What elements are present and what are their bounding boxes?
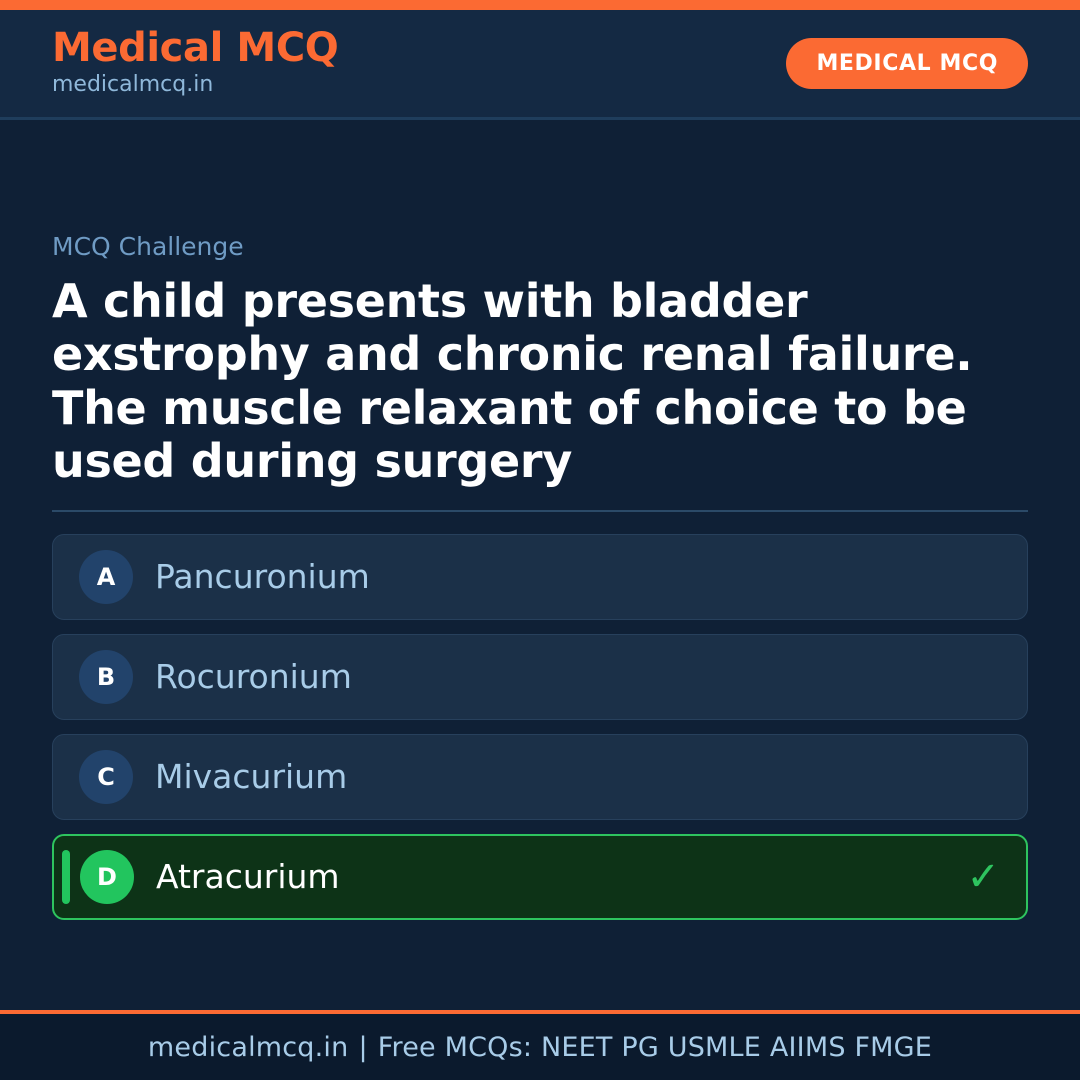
option-b[interactable]: B Rocuronium xyxy=(52,634,1028,720)
footer-separator: | xyxy=(348,1032,377,1063)
eyebrow-label: MCQ Challenge xyxy=(52,232,1028,262)
footer-text: medicalmcq.in|Free MCQs: NEET PG USMLE A… xyxy=(148,1032,932,1063)
header-badge: MEDICAL MCQ xyxy=(786,38,1028,89)
correct-accent-bar xyxy=(62,850,70,904)
option-d[interactable]: D Atracurium ✓ xyxy=(52,834,1028,920)
option-a-letter: A xyxy=(79,550,133,604)
header: Medical MCQ medicalmcq.in MEDICAL MCQ xyxy=(0,10,1080,120)
mcq-card: Medical MCQ medicalmcq.in MEDICAL MCQ MC… xyxy=(0,0,1080,1080)
top-accent-bar xyxy=(0,0,1080,10)
option-a-label: Pancuronium xyxy=(155,559,370,595)
option-c-label: Mivacurium xyxy=(155,759,347,795)
brand-subtitle: medicalmcq.in xyxy=(52,71,338,100)
brand-block: Medical MCQ medicalmcq.in xyxy=(52,27,338,100)
options-list: A Pancuronium B Rocuronium C Mivacurium … xyxy=(52,534,1028,920)
option-c-letter: C xyxy=(79,750,133,804)
checkmark-icon: ✓ xyxy=(966,857,1000,897)
option-b-label: Rocuronium xyxy=(155,659,352,695)
brand-title: Medical MCQ xyxy=(52,27,338,69)
question-text: A child presents with bladder exstrophy … xyxy=(52,275,1028,488)
option-d-letter: D xyxy=(80,850,134,904)
footer: medicalmcq.in|Free MCQs: NEET PG USMLE A… xyxy=(0,1010,1080,1080)
section-divider xyxy=(52,510,1028,512)
footer-site: medicalmcq.in xyxy=(148,1032,349,1063)
footer-exams: Free MCQs: NEET PG USMLE AIIMS FMGE xyxy=(378,1032,932,1063)
option-a[interactable]: A Pancuronium xyxy=(52,534,1028,620)
option-b-letter: B xyxy=(79,650,133,704)
option-c[interactable]: C Mivacurium xyxy=(52,734,1028,820)
main-content: MCQ Challenge A child presents with blad… xyxy=(0,120,1080,1010)
option-d-label: Atracurium xyxy=(156,859,340,895)
